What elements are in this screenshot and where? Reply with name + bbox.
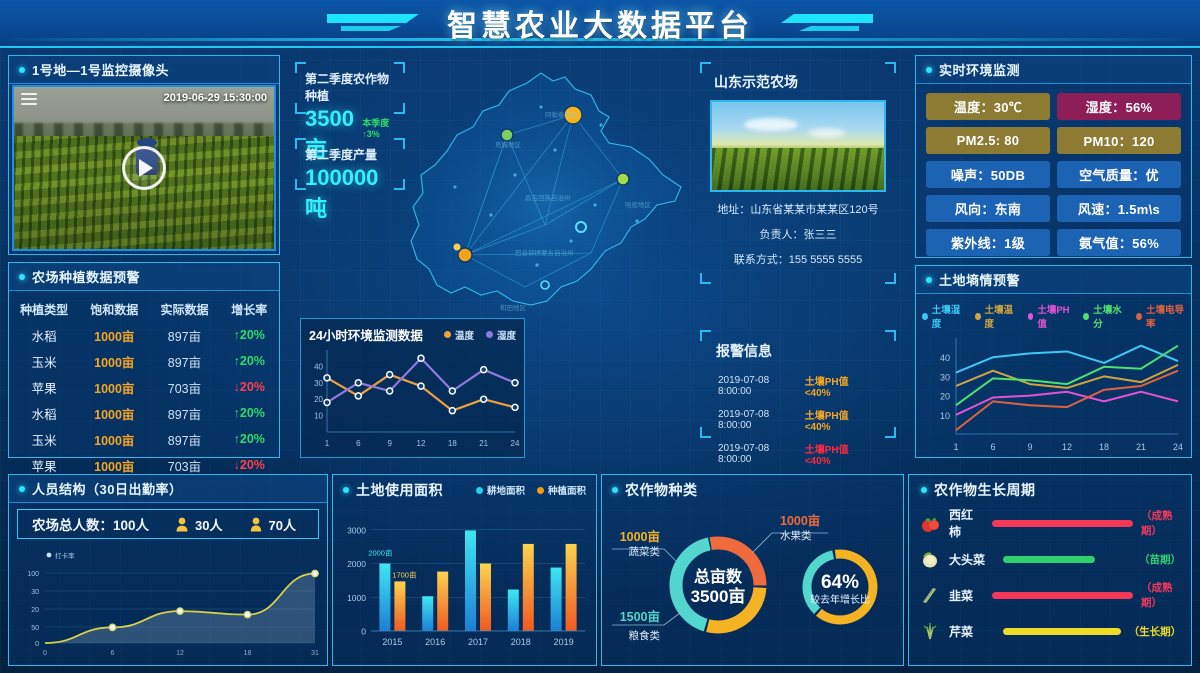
y-tick: 30 xyxy=(31,589,39,596)
cell-growth: ↑20% xyxy=(220,426,279,452)
legend-item[interactable]: 耕地面积 xyxy=(476,483,525,497)
env-card-6: 风向：东南 xyxy=(926,195,1050,222)
growth-panel-title: 农作物生长周期 xyxy=(934,480,1036,500)
legend-dot xyxy=(537,487,544,494)
donut-center-label: 总亩数 xyxy=(694,567,743,586)
map-region-label: 和田地区 xyxy=(500,303,527,312)
env-card-7: 风速：1.5m\s xyxy=(1057,195,1181,222)
farm-alert-table: 种植类型 饱和数据 实际数据 增长率 水稻1000亩897亩↑20%玉米1000… xyxy=(9,297,279,478)
cell-actual: 897亩 xyxy=(149,348,219,374)
data-point xyxy=(512,404,518,410)
growth-crop-name: 芹菜 xyxy=(949,623,995,640)
y-tick: 0 xyxy=(361,627,366,637)
x-tick: 21 xyxy=(1136,442,1146,452)
x-tick: 0 xyxy=(43,650,47,657)
x-tick: 12 xyxy=(176,650,184,657)
bar xyxy=(508,589,519,631)
legend-label: 土壤电导率 xyxy=(1146,302,1185,330)
bar xyxy=(394,581,405,631)
env-card-2: PM2.5: 80 xyxy=(926,127,1050,154)
attendance-female: 70人 xyxy=(249,515,296,534)
series-line xyxy=(956,346,1178,373)
legend-label: 土壤水分 xyxy=(1093,302,1124,330)
map-region-label: 哈密地区 xyxy=(625,200,652,209)
data-point xyxy=(481,396,487,402)
header-decor-left xyxy=(327,10,447,36)
legend-dot xyxy=(922,313,928,320)
y-tick: 20 xyxy=(940,392,950,402)
map-region-label: 巴音郭楞蒙古自治州 xyxy=(515,248,574,257)
x-tick: 2018 xyxy=(511,637,531,647)
farm-info-panel: 山东示范农场 地址：山东省某某市某某区120号 负责人：张三三 联系方式：155… xyxy=(700,62,896,284)
dashboard-header: 智慧农业大数据平台 xyxy=(0,0,1200,48)
table-row: 水稻1000亩897亩↑20% xyxy=(9,322,279,348)
donut-center-value: 3500亩 xyxy=(691,586,746,606)
camera-video[interactable]: 2019-06-29 15:30:00 xyxy=(12,85,276,251)
attendance-male: 30人 xyxy=(175,515,222,534)
cell-growth: ↑20% xyxy=(220,400,279,426)
table-row: 苹果1000亩703亩↓20% xyxy=(9,374,279,400)
env-panel-header: 实时环境监测 xyxy=(916,56,1191,84)
growth-progress-bar xyxy=(1003,556,1095,563)
farm-table-title: 农场种植数据预警 xyxy=(32,267,140,286)
alarm-time: 2019-07-08 8:00:00 xyxy=(718,443,805,465)
attendance-panel-header: 人员结构（30日出勤率） xyxy=(9,475,327,503)
growth-cycle-panel: 农作物生长周期 西红柿（成熟期）大头菜（苗期）韭菜（成熟期）芹菜（生长期） xyxy=(908,474,1192,666)
data-point xyxy=(355,380,361,386)
farm-manager: 负责人：张三三 xyxy=(710,226,886,242)
col-sat: 饱和数据 xyxy=(79,297,149,322)
y-tick: 50 xyxy=(31,625,39,632)
donut-category-label: 水果类 xyxy=(780,529,812,542)
bar-annotation: 2000亩 xyxy=(368,548,393,558)
bullet-icon xyxy=(926,67,932,73)
growth-crop-name: 韭菜 xyxy=(949,587,984,604)
table-header-row: 种植类型 饱和数据 实际数据 增长率 xyxy=(9,297,279,322)
legend-dot xyxy=(47,553,52,558)
male-person-icon xyxy=(175,517,189,532)
bullet-icon xyxy=(921,487,927,493)
legend-dot xyxy=(444,331,451,338)
table-row: 玉米1000亩897亩↑20% xyxy=(9,426,279,452)
leek-icon xyxy=(919,585,941,605)
x-tick: 12 xyxy=(1062,442,1072,452)
growth-progress-bar xyxy=(1003,628,1121,635)
x-tick: 2015 xyxy=(382,637,402,647)
env-card-9: 氨气值：56% xyxy=(1057,229,1181,256)
cell-saturation: 1000亩 xyxy=(79,348,149,374)
cell-actual: 897亩 xyxy=(149,426,219,452)
x-tick: 6 xyxy=(111,650,115,657)
data-point xyxy=(449,388,455,394)
crop-types-title: 农作物种类 xyxy=(625,480,698,500)
farm-alert-table-panel: 农场种植数据预警 种植类型 饱和数据 实际数据 增长率 水稻1000亩897亩↑… xyxy=(8,262,280,458)
bar xyxy=(551,568,562,631)
alarm-row: 2019-07-08 8:00:00土壤PH值<40% xyxy=(710,403,886,437)
cell-growth: ↓20% xyxy=(220,374,279,400)
bullet-icon xyxy=(19,486,25,492)
x-tick: 9 xyxy=(387,439,392,448)
map-region-label: 塔城地区 xyxy=(495,140,522,149)
data-point xyxy=(109,624,115,630)
legend-dot xyxy=(486,331,493,338)
table-row: 水稻1000亩897亩↑20% xyxy=(9,400,279,426)
series-line xyxy=(327,375,515,411)
donut-category-label: 粮食类 xyxy=(629,629,661,642)
crop-types-panel: 农作物种类 总亩数3500亩1000亩水果类1000亩蔬菜类1500亩粮食类64… xyxy=(601,474,904,666)
y-tick: 20 xyxy=(314,395,323,404)
bar xyxy=(480,564,491,632)
env-card-4: 噪声：50DB xyxy=(926,161,1050,188)
col-actual: 实际数据 xyxy=(149,297,219,322)
cell-actual: 897亩 xyxy=(149,400,219,426)
y-tick: 40 xyxy=(940,353,950,363)
cell-actual: 897亩 xyxy=(149,322,219,348)
growth-row: 芹菜（生长期） xyxy=(909,613,1191,649)
bullet-icon xyxy=(343,487,349,493)
env-card-3: PM10：120 xyxy=(1057,127,1181,154)
y-tick: 1000 xyxy=(347,593,366,603)
donut-category-label: 蔬菜类 xyxy=(629,545,661,558)
x-tick: 24 xyxy=(1173,442,1183,452)
growth-row: 大头菜（苗期） xyxy=(909,541,1191,577)
y-tick: 10 xyxy=(940,411,950,421)
landuse-panel-title: 土地使用面积 xyxy=(356,480,443,500)
x-tick: 2017 xyxy=(468,637,488,647)
series-line xyxy=(956,346,1178,406)
camera-panel: 1号地—1号监控摄像头 2019-06-29 15:30:00 xyxy=(8,55,280,255)
attendance-summary: 农场总人数：100人 30人 70人 xyxy=(17,509,319,539)
y-tick: 30 xyxy=(314,379,323,388)
env-card-grid: 温度：30℃湿度：56%PM2.5: 80PM10：120噪声：50DB空气质量… xyxy=(916,84,1191,265)
x-tick: 6 xyxy=(990,442,995,452)
cell-saturation: 1000亩 xyxy=(79,426,149,452)
stat-planting-box: 第二季度农作物种植 3500亩 本季度↑3% xyxy=(295,62,405,114)
camera-timestamp: 2019-06-29 15:30:00 xyxy=(164,92,267,104)
env-card-1: 湿度：56% xyxy=(1057,93,1181,120)
growth-stage-label: （成熟期） xyxy=(1141,580,1181,610)
y-tick: 0 xyxy=(35,641,39,648)
growth-row: 西红柿（成熟期） xyxy=(909,505,1191,541)
env-24h-title: 24小时环境监测数据 xyxy=(309,325,423,344)
bullet-icon xyxy=(19,274,25,280)
bar-annotation: 1700亩 xyxy=(392,570,417,580)
alarm-panel-title: 报警信息 xyxy=(716,341,886,361)
legend-label: 土壤湿度 xyxy=(932,302,963,330)
cell-type: 玉米 xyxy=(9,426,79,452)
growth-stage-label: （成熟期） xyxy=(1141,508,1181,538)
env-card-5: 空气质量：优 xyxy=(1057,161,1181,188)
legend-dot xyxy=(975,313,981,320)
data-point xyxy=(418,383,424,389)
x-tick: 2019 xyxy=(554,637,574,647)
farm-info-title: 山东示范农场 xyxy=(714,72,886,92)
x-tick: 2016 xyxy=(425,637,445,647)
stat-output-label: 第二季度产量 xyxy=(305,146,395,163)
table-row: 玉米1000亩897亩↑20% xyxy=(9,348,279,374)
legend-dot xyxy=(1083,313,1089,320)
env-panel-title: 实时环境监测 xyxy=(939,60,1020,79)
x-tick: 21 xyxy=(479,439,488,448)
growth-progress-bar xyxy=(992,520,1133,527)
env-monitor-panel: 实时环境监测 温度：30℃湿度：56%PM2.5: 80PM10：120噪声：5… xyxy=(915,55,1192,258)
growth-donut-label: 较去年增长比 xyxy=(810,593,870,606)
stat-planting-delta: 本季度↑3% xyxy=(362,116,395,139)
bar xyxy=(465,530,476,631)
env-card-0: 温度：30℃ xyxy=(926,93,1050,120)
female-person-icon xyxy=(249,517,263,532)
china-region-map[interactable]: 塔城地区阿勒泰地区昌吉回族自治州哈密地区巴音郭楞蒙古自治州和田地区 xyxy=(395,55,695,355)
legend-label: 土壤温度 xyxy=(985,302,1016,330)
env-24h-chart-panel: 24小时环境监测数据 温度湿度 1020304016912182124 xyxy=(300,318,525,458)
y-tick: 20 xyxy=(31,607,39,614)
cell-type: 水稻 xyxy=(9,322,79,348)
stat-planting-label: 第二季度农作物种植 xyxy=(305,70,395,104)
soil-linechart: 1020304016912182124 xyxy=(916,330,1191,462)
soil-panel-header: 土地墒情预警 xyxy=(916,266,1191,294)
alarm-message: 土壤PH值<40% xyxy=(805,373,874,399)
legend-dot xyxy=(1136,313,1142,320)
alarm-message: 土壤PH值<40% xyxy=(805,441,874,467)
data-point xyxy=(512,380,518,386)
farm-address: 地址：山东省某某市某某区120号 xyxy=(710,201,886,217)
legend-item[interactable]: 土壤电导率 xyxy=(1136,302,1185,330)
camera-panel-header: 1号地—1号监控摄像头 xyxy=(9,56,279,84)
soil-panel-title: 土地墒情预警 xyxy=(939,270,1020,289)
col-type: 种植类型 xyxy=(9,297,79,322)
alarm-time: 2019-07-08 8:00:00 xyxy=(718,409,805,431)
camera-panel-title: 1号地—1号监控摄像头 xyxy=(32,60,169,79)
x-tick: 9 xyxy=(1027,442,1032,452)
bar xyxy=(566,544,577,631)
y-tick: 100 xyxy=(27,571,39,578)
legend-dot xyxy=(476,487,483,494)
farm-table-header: 农场种植数据预警 xyxy=(9,263,279,291)
x-tick: 1 xyxy=(325,439,330,448)
landuse-barchart: 0100020003000201520162017201820192000亩17… xyxy=(333,505,596,665)
stat-output-value: 100000吨 xyxy=(305,165,395,223)
legend-label: 温度 xyxy=(455,328,474,342)
bar xyxy=(379,564,390,632)
cell-type: 苹果 xyxy=(9,374,79,400)
x-tick: 31 xyxy=(311,650,319,657)
y-tick: 40 xyxy=(314,362,323,371)
x-tick: 18 xyxy=(1099,442,1109,452)
legend-item[interactable]: 土壤温度 xyxy=(975,302,1016,330)
attendance-panel-title: 人员结构（30日出勤率） xyxy=(32,479,182,498)
data-point xyxy=(481,367,487,373)
attendance-panel: 人员结构（30日出勤率） 农场总人数：100人 30人 70人 05020301… xyxy=(8,474,328,666)
cell-saturation: 1000亩 xyxy=(79,322,149,348)
data-point xyxy=(387,388,393,394)
landuse-panel: 土地使用面积 耕地面积种植面积 010002000300020152016201… xyxy=(332,474,597,666)
data-point xyxy=(177,608,183,614)
bullet-icon xyxy=(19,67,25,73)
col-growth: 增长率 xyxy=(220,297,279,322)
bar xyxy=(422,596,433,631)
bullet-icon xyxy=(612,487,618,493)
data-point xyxy=(387,372,393,378)
cell-saturation: 1000亩 xyxy=(79,374,149,400)
donut-value-label: 1500亩 xyxy=(620,609,660,624)
attendance-areachart: 050203010006121831打卡率 xyxy=(9,539,327,667)
env-24h-linechart: 1020304016912182124 xyxy=(301,344,526,456)
legend-label: 耕地面积 xyxy=(487,483,525,497)
legend-item[interactable]: 种植面积 xyxy=(537,483,586,497)
celery-icon xyxy=(919,621,941,641)
map-region-label: 昌吉回族自治州 xyxy=(525,193,571,202)
stat-output-box: 第二季度产量 100000吨 xyxy=(295,138,405,190)
alarm-row: 2019-07-08 8:00:00土壤PH值<40% xyxy=(710,437,886,471)
attendance-total: 农场总人数：100人 xyxy=(32,514,149,534)
tomato-icon xyxy=(919,513,941,533)
x-tick: 18 xyxy=(244,650,252,657)
legend-item[interactable]: 土壤湿度 xyxy=(922,302,963,330)
data-point xyxy=(324,399,330,405)
data-point xyxy=(312,570,318,576)
env-24h-legend: 温度湿度 xyxy=(444,328,516,342)
cell-type: 水稻 xyxy=(9,400,79,426)
y-tick: 2000 xyxy=(347,559,366,569)
farm-photo xyxy=(710,100,886,192)
bar xyxy=(523,544,534,631)
x-tick: 18 xyxy=(448,439,457,448)
header-decor-right xyxy=(753,10,873,36)
soil-chart-legend: 土壤湿度土壤温度土壤PH值土壤水分土壤电导率 xyxy=(916,294,1191,330)
bar xyxy=(437,572,448,631)
growth-crop-name: 大头菜 xyxy=(949,551,995,568)
cell-growth: ↑20% xyxy=(220,348,279,374)
y-tick: 10 xyxy=(314,412,323,421)
alarm-row: 2019-07-08 8:00:00土壤PH值<40% xyxy=(710,369,886,403)
x-tick: 1 xyxy=(953,442,958,452)
y-tick: 30 xyxy=(940,372,950,382)
hamburger-menu-icon[interactable] xyxy=(21,93,37,108)
legend-label: 湿度 xyxy=(497,328,516,342)
x-tick: 24 xyxy=(511,439,520,448)
alarm-panel: 报警信息 2019-07-08 8:00:00土壤PH值<40%2019-07-… xyxy=(700,330,896,438)
cell-saturation: 1000亩 xyxy=(79,400,149,426)
landuse-legend: 耕地面积种植面积 xyxy=(476,483,586,497)
cabbage-icon xyxy=(919,549,941,569)
data-point xyxy=(418,355,424,361)
play-icon[interactable] xyxy=(122,146,166,190)
legend-item[interactable]: 湿度 xyxy=(486,328,516,342)
growth-row: 韭菜（成熟期） xyxy=(909,577,1191,613)
growth-stage-label: （苗期） xyxy=(1139,552,1181,567)
crop-types-donutchart: 总亩数3500亩1000亩水果类1000亩蔬菜类1500亩粮食类64%较去年增长… xyxy=(602,505,903,665)
farm-contact: 联系方式：155 5555 5555 xyxy=(710,251,886,267)
legend-label: 土壤PH值 xyxy=(1037,302,1071,330)
env-card-8: 紫外线：1级 xyxy=(926,229,1050,256)
donut-value-label: 1000亩 xyxy=(780,513,820,528)
legend-item[interactable]: 土壤PH值 xyxy=(1028,302,1072,330)
data-point xyxy=(449,408,455,414)
data-point xyxy=(244,611,250,617)
legend-label: 种植面积 xyxy=(548,483,586,497)
cell-growth: ↑20% xyxy=(220,322,279,348)
cell-type: 玉米 xyxy=(9,348,79,374)
soil-monitor-panel: 土地墒情预警 土壤湿度土壤温度土壤PH值土壤水分土壤电导率 1020304016… xyxy=(915,265,1192,458)
page-title: 智慧农业大数据平台 xyxy=(447,1,753,45)
growth-crop-name: 西红柿 xyxy=(949,506,984,540)
legend-dot xyxy=(1028,313,1034,320)
legend-item[interactable]: 温度 xyxy=(444,328,474,342)
cell-actual: 703亩 xyxy=(149,374,219,400)
bullet-icon xyxy=(926,277,932,283)
alarm-time: 2019-07-08 8:00:00 xyxy=(718,375,805,397)
map-region-label: 阿勒泰地区 xyxy=(545,110,578,119)
x-tick: 12 xyxy=(417,439,426,448)
donut-value-label: 1000亩 xyxy=(620,529,660,544)
alarm-message: 土壤PH值<40% xyxy=(805,407,874,433)
growth-progress-bar xyxy=(992,592,1133,599)
y-tick: 3000 xyxy=(347,525,366,535)
growth-stage-label: （生长期） xyxy=(1129,624,1181,639)
growth-donut-value: 64% xyxy=(821,572,859,593)
legend-item[interactable]: 土壤水分 xyxy=(1083,302,1124,330)
data-point xyxy=(355,393,361,399)
data-point xyxy=(324,375,330,381)
x-tick: 6 xyxy=(356,439,361,448)
legend-label: 打卡率 xyxy=(55,551,75,560)
